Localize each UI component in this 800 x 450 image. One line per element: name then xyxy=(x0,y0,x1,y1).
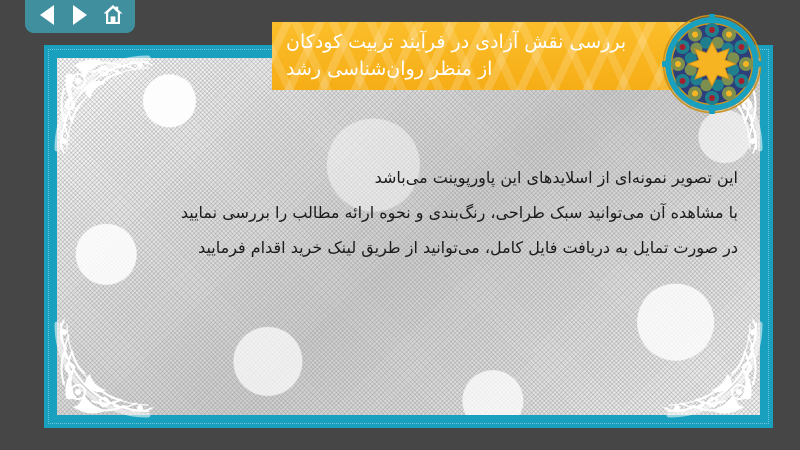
body-line-1: این تصویر نمونه‌ای از اسلایدهای این پاور… xyxy=(57,160,738,195)
slide-title-line-1: بررسی نقش آزادی در فرآیند تربیت کودکان xyxy=(286,29,626,56)
forward-button[interactable] xyxy=(67,3,93,27)
slide-body-text: این تصویر نمونه‌ای از اسلایدهای این پاور… xyxy=(57,160,760,265)
home-button[interactable] xyxy=(100,3,126,27)
slide-viewer: این تصویر نمونه‌ای از اسلایدهای این پاور… xyxy=(0,0,800,450)
slide-title-line-2: از منظر روان‌شناسی رشد xyxy=(286,56,492,83)
navigation-toolbar xyxy=(25,0,135,33)
triangle-right-icon xyxy=(73,5,87,25)
body-line-3: در صورت تمایل به دریافت فایل کامل، می‌تو… xyxy=(57,230,738,265)
body-line-2: با مشاهده آن می‌توانید سبک طراحی، رنگ‌بن… xyxy=(57,195,738,230)
home-icon xyxy=(101,4,125,26)
slide-title-banner: بررسی نقش آزادی در فرآیند تربیت کودکان ا… xyxy=(272,22,712,90)
slide-frame: این تصویر نمونه‌ای از اسلایدهای این پاور… xyxy=(44,45,773,428)
triangle-left-icon xyxy=(40,5,54,25)
back-button[interactable] xyxy=(34,3,60,27)
